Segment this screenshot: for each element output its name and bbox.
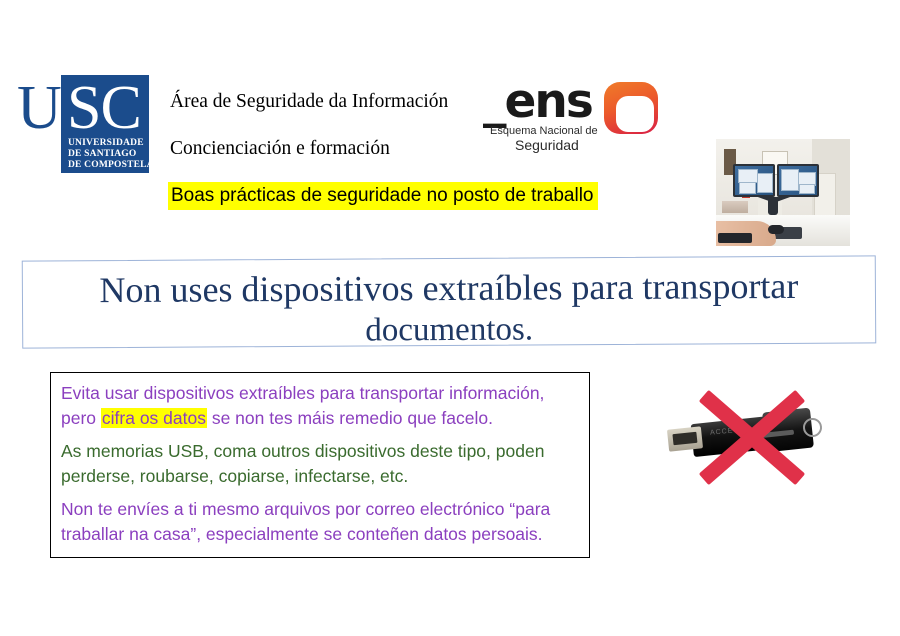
photo-monitor-right [777, 164, 819, 197]
photo-window [781, 169, 799, 191]
photo-window [757, 173, 773, 193]
usc-logo-letter-u: U [17, 77, 61, 139]
photo-keyboard [718, 233, 752, 243]
ens-logo: _ens Esquema Nacional de Seguridad [483, 80, 673, 152]
usc-logo-subline-1: UNIVERSIDADE [68, 138, 144, 149]
page-title-line-2: documentos. [365, 311, 533, 348]
ens-logo-mark-icon [604, 82, 658, 134]
page-title: Non uses dispositivos extraíbles para tr… [23, 265, 875, 352]
usb-connector-inner [672, 432, 697, 445]
ens-mark-inner-shape [616, 96, 654, 132]
usc-logo-subline-3: DE COMPOSTELA [68, 160, 154, 171]
header-line-concienciacion: Concienciación e formación [170, 138, 390, 160]
slide-canvas: U SC UNIVERSIDADE DE SANTIAGO DE COMPOST… [0, 0, 900, 636]
usc-logo-letters-sc: SC [67, 77, 141, 139]
page-title-line-1: Non uses dispositivos extraíbles para tr… [99, 266, 798, 310]
photo-screen-right [779, 166, 817, 195]
workstation-photo [716, 139, 850, 246]
photo-window [799, 184, 815, 194]
title-banner: Non uses dispositivos extraíbles para tr… [22, 255, 877, 348]
photo-mouse [768, 225, 784, 234]
photo-books [722, 201, 748, 213]
body-paragraph-1: Evita usar dispositivos extraíbles para … [61, 381, 579, 430]
usb-connector [667, 426, 703, 451]
usb-flash-drive-crossed-out-icon: ACCESS 4GB [660, 380, 860, 510]
body-p2-text: As memorias USB, coma outros dispositivo… [61, 441, 544, 486]
usc-logo-subline-2: DE SANTIAGO [68, 149, 136, 160]
body-paragraph-2: As memorias USB, coma outros dispositivo… [61, 439, 579, 488]
usc-logo: U SC UNIVERSIDADE DE SANTIAGO DE COMPOST… [17, 75, 162, 173]
usc-logo-square: SC UNIVERSIDADE DE SANTIAGO DE COMPOSTEL… [61, 75, 149, 173]
photo-monitor-stand [768, 197, 778, 215]
body-text-box: Evita usar dispositivos extraíbles para … [50, 372, 590, 558]
photo-screen-left [735, 166, 773, 195]
body-p1-highlight: cifra os datos [101, 408, 207, 428]
photo-window [739, 182, 756, 194]
photo-window [738, 169, 758, 183]
body-paragraph-3: Non te envíes a ti mesmo arquivos por co… [61, 497, 579, 546]
ens-logo-subline-2: Seguridad [515, 137, 579, 153]
header-line-area-seguridade: Área de Seguridade da Información [170, 91, 448, 113]
photo-monitor-left [733, 164, 775, 197]
ens-logo-subline-1: Esquema Nacional de [490, 125, 598, 137]
ens-logo-wordmark: _ens [483, 78, 592, 125]
body-p3-text: Non te envíes a ti mesmo arquivos por co… [61, 499, 550, 544]
subtitle-highlighted: Boas prácticas de seguridade no posto de… [168, 182, 598, 210]
body-p1-seg-3: se non tes máis remedio que facelo. [207, 408, 493, 428]
